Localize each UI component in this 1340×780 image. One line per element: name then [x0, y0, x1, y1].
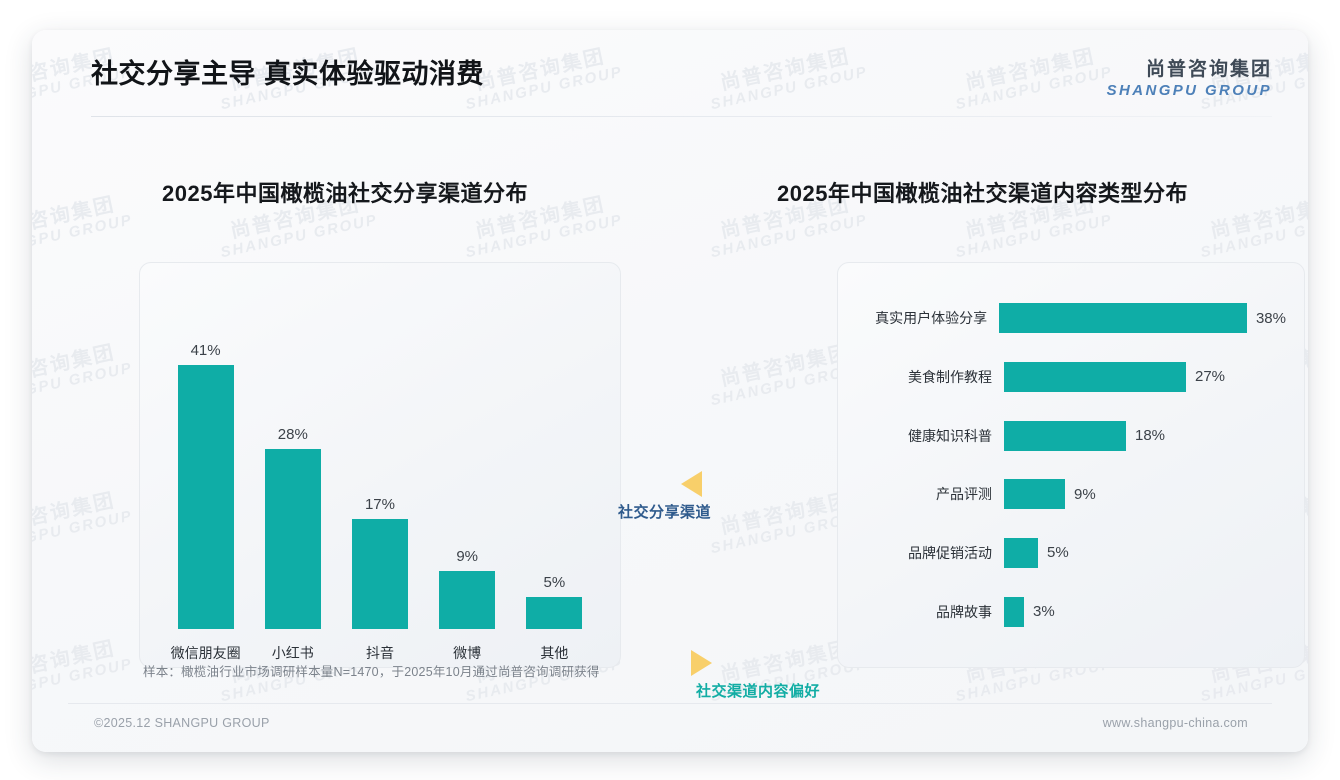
bar[interactable]: [1004, 421, 1126, 451]
triangle-left-icon: [681, 471, 702, 497]
bar-row: 品牌促销活动5%: [856, 531, 1286, 575]
vertical-bar-chart: 41%微信朋友圈28%小红书17%抖音9%微博5%其他: [140, 263, 620, 667]
bar-value-label: 18%: [1135, 427, 1165, 444]
category-label: 品牌故事: [856, 602, 1004, 622]
bar-value-label: 28%: [278, 426, 308, 443]
annotation-social-share-channel: 社交分享渠道: [618, 471, 711, 522]
footer-divider: [68, 703, 1272, 704]
sample-footnote: 样本：橄榄油行业市场调研样本量N=1470，于2025年10月通过尚普咨询调研获…: [143, 661, 600, 680]
website-link[interactable]: www.shangpu-china.com: [1103, 716, 1248, 730]
bar-value-label: 9%: [456, 548, 478, 565]
bar-row: 真实用户体验分享38%: [856, 296, 1286, 340]
bar-value-label: 17%: [365, 496, 395, 513]
bar-value-label: 5%: [1047, 544, 1069, 561]
annotation-label: 社交分享渠道: [618, 501, 711, 522]
bar[interactable]: [265, 449, 321, 629]
bar-group: 28%小红书: [250, 293, 336, 667]
bar[interactable]: [178, 365, 234, 629]
header-divider: [91, 116, 1272, 117]
bar-row: 品牌故事3%: [856, 590, 1286, 634]
slide-card: 尚普咨询集团SHANGPU GROUP尚普咨询集团SHANGPU GROUP尚普…: [32, 30, 1308, 752]
bar-row: 美食制作教程27%: [856, 355, 1286, 399]
brand-logo: 尚普咨询集团 SHANGPU GROUP: [1107, 54, 1272, 99]
triangle-right-icon: [691, 650, 712, 676]
bar[interactable]: [526, 597, 582, 629]
slide-content: 2025年中国橄榄油社交分享渠道分布 2025年中国橄榄油社交渠道内容类型分布 …: [32, 118, 1308, 660]
bar[interactable]: [1004, 538, 1038, 568]
category-label: 真实用户体验分享: [856, 308, 999, 328]
bar-group: 9%微博: [424, 293, 510, 667]
bar-value-label: 5%: [544, 574, 566, 591]
slide-header: 社交分享主导 真实体验驱动消费 尚普咨询集团 SHANGPU GROUP: [32, 30, 1308, 118]
page-title: 社交分享主导 真实体验驱动消费: [91, 52, 484, 91]
bar-value-label: 27%: [1195, 368, 1225, 385]
copyright-text: ©2025.12 SHANGPU GROUP: [94, 716, 270, 730]
bar-value-label: 41%: [191, 342, 221, 359]
horizontal-bar-chart: 真实用户体验分享38%美食制作教程27%健康知识科普18%产品评测9%品牌促销活…: [838, 263, 1304, 667]
bar-value-label: 9%: [1074, 486, 1096, 503]
bar-value-label: 38%: [1256, 310, 1286, 327]
category-label: 产品评测: [856, 484, 1004, 504]
bar-value-label: 3%: [1033, 603, 1055, 620]
bar[interactable]: [352, 519, 408, 629]
category-label: 品牌促销活动: [856, 543, 1004, 563]
annotation-content-preference: 社交渠道内容偏好: [691, 650, 820, 701]
left-chart-title: 2025年中国橄榄油社交分享渠道分布: [162, 176, 528, 208]
bar-row: 健康知识科普18%: [856, 414, 1286, 458]
category-label: 美食制作教程: [856, 367, 1004, 387]
bar[interactable]: [999, 303, 1247, 333]
bar[interactable]: [1004, 362, 1186, 392]
right-chart-title: 2025年中国橄榄油社交渠道内容类型分布: [777, 176, 1188, 208]
bar-row: 产品评测9%: [856, 472, 1286, 516]
bar[interactable]: [1004, 479, 1065, 509]
bar-group: 41%微信朋友圈: [163, 293, 249, 667]
bar-group: 17%抖音: [337, 293, 423, 667]
category-label: 健康知识科普: [856, 426, 1004, 446]
left-chart-panel: 41%微信朋友圈28%小红书17%抖音9%微博5%其他: [139, 262, 621, 668]
bar-group: 5%其他: [511, 293, 597, 667]
annotation-label: 社交渠道内容偏好: [696, 680, 820, 701]
logo-english-text: SHANGPU GROUP: [1107, 82, 1272, 99]
logo-chinese-text: 尚普咨询集团: [1107, 54, 1272, 81]
bar[interactable]: [1004, 597, 1024, 627]
right-chart-panel: 真实用户体验分享38%美食制作教程27%健康知识科普18%产品评测9%品牌促销活…: [837, 262, 1305, 668]
bar[interactable]: [439, 571, 495, 629]
